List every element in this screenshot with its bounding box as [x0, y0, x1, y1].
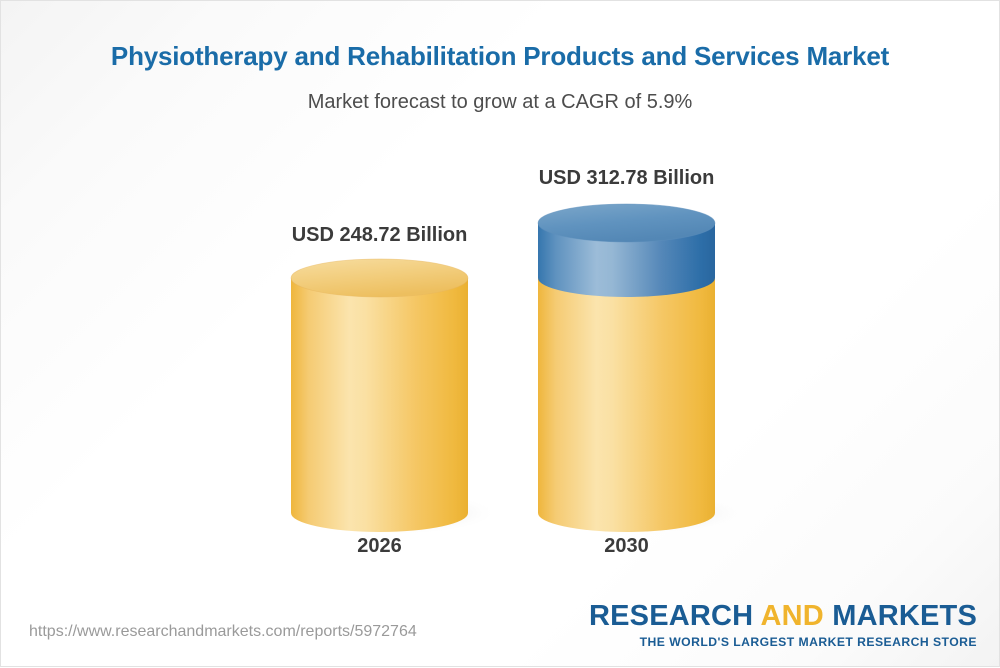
research-and-markets-logo[interactable]: RESEARCH AND MARKETS THE WORLD'S LARGEST…: [589, 602, 977, 649]
bar-2030-value-label: USD 312.78 Billion: [503, 167, 750, 190]
report-url[interactable]: https://www.researchandmarkets.com/repor…: [29, 623, 417, 641]
bar-2026-body: [291, 278, 468, 532]
bar-2030[interactable]: [535, 204, 745, 535]
category-label-2026: 2026: [286, 535, 473, 558]
bar-2026[interactable]: [288, 259, 498, 535]
logo-tagline: THE WORLD'S LARGEST MARKET RESEARCH STOR…: [589, 635, 977, 649]
logo-wordmark: RESEARCH AND MARKETS: [589, 602, 977, 632]
category-label-2030: 2030: [533, 535, 720, 558]
bar-2030-base-body: [538, 278, 715, 532]
bar-2026-value-label: USD 248.72 Billion: [256, 224, 503, 247]
logo-markets-text: MARKETS: [824, 600, 977, 632]
cylinder-chart-plot: [1, 1, 1000, 668]
chart-canvas: Physiotherapy and Rehabilitation Product…: [0, 0, 1000, 667]
logo-research-text: RESEARCH: [589, 600, 761, 632]
logo-and-text: AND: [761, 600, 824, 632]
